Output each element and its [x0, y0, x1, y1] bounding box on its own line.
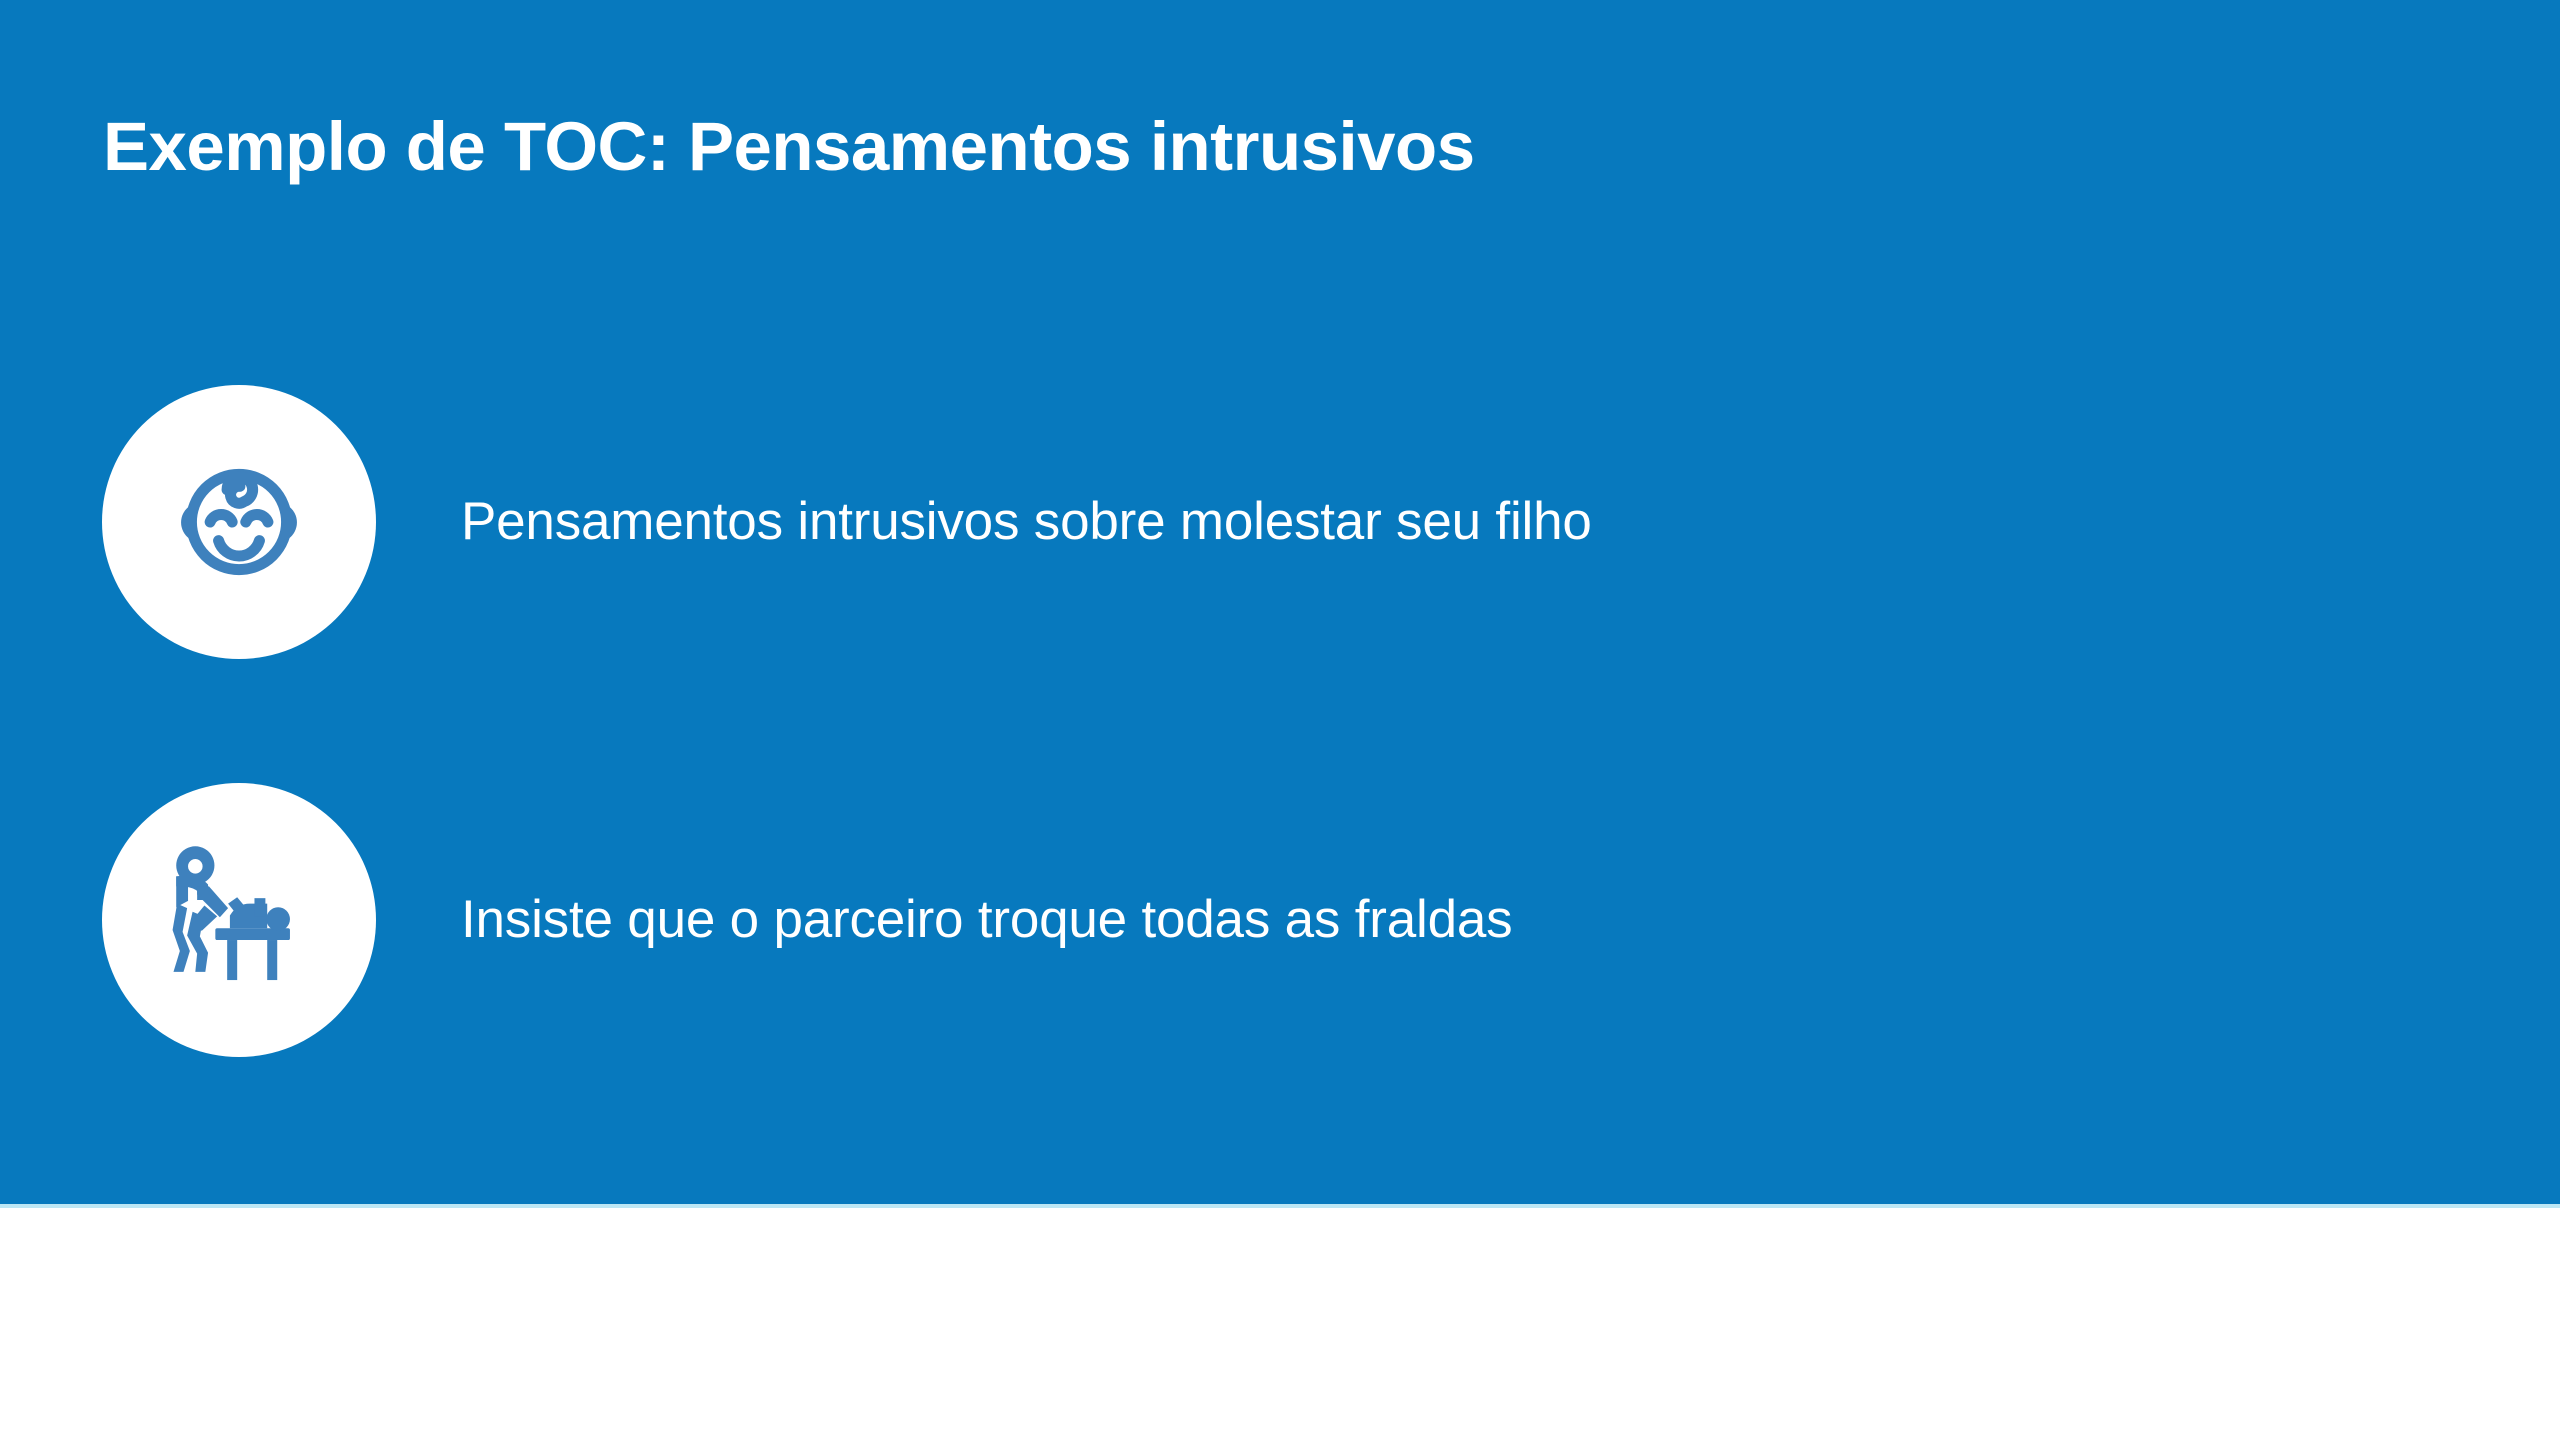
list-item: Insiste que o parceiro troque todas as f…	[102, 783, 2462, 1057]
list-item-label: Pensamentos intrusivos sobre molestar se…	[461, 490, 2462, 554]
icon-badge	[102, 783, 376, 1057]
list-item-label: Insiste que o parceiro troque todas as f…	[461, 888, 2462, 952]
slide: Exemplo de TOC: Pensamentos intrusivos	[0, 0, 2560, 1440]
baby-face-icon	[154, 437, 324, 607]
page-title: Exemplo de TOC: Pensamentos intrusivos	[103, 108, 2303, 185]
icon-badge	[102, 385, 376, 659]
list-item: Pensamentos intrusivos sobre molestar se…	[102, 385, 2462, 659]
diaper-changing-icon	[148, 829, 330, 1011]
slide-footer: Hudak, R., & Wisner, K. L. (2012). Diagn…	[0, 1208, 2560, 1440]
